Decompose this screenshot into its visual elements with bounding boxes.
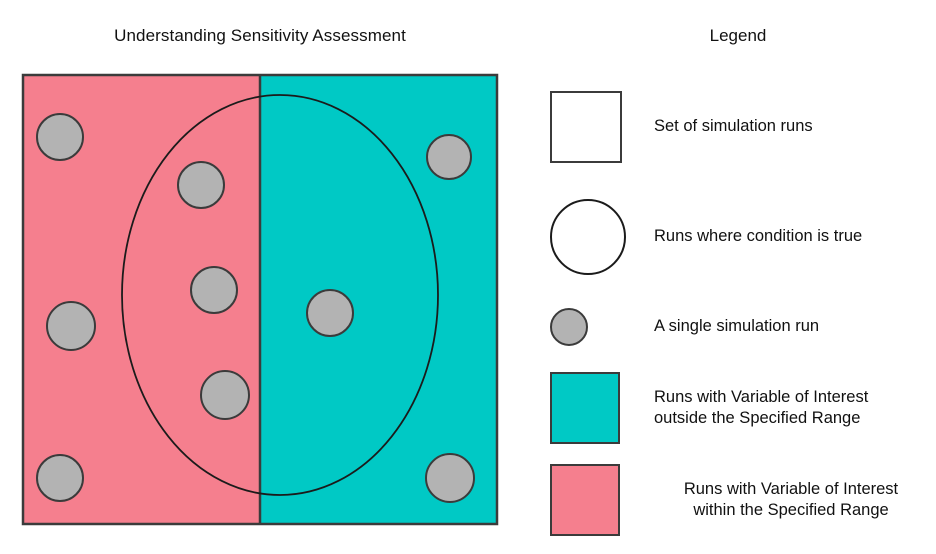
- simulation-run-circle: [178, 162, 224, 208]
- legend-item-label: Set of simulation runs: [650, 116, 936, 137]
- legend-swatch-cell: [540, 91, 650, 163]
- legend-item-label: Runs with Variable of Interestwithin the…: [650, 479, 936, 522]
- simulation-run-circle: [426, 454, 474, 502]
- filled-circle-icon: [550, 308, 588, 346]
- legend-item-within-specified-range[interactable]: Runs with Variable of Interestwithin the…: [540, 450, 936, 550]
- legend-item-label: Runs where condition is true: [650, 226, 936, 247]
- legend-swatch-cell: [540, 464, 650, 536]
- diagram-canvas: Understanding Sensitivity Assessment Leg…: [0, 0, 936, 554]
- legend-swatch-cell: [540, 308, 650, 346]
- legend-swatch-cell: [540, 372, 650, 444]
- circle-outline-icon: [550, 199, 626, 275]
- square-outline-icon: [550, 91, 622, 163]
- teal-swatch-icon: [550, 372, 620, 444]
- simulation-run-circle: [47, 302, 95, 350]
- legend-item-label: A single simulation run: [650, 316, 936, 337]
- legend-item-runs-where-condition-is-true[interactable]: Runs where condition is true: [540, 185, 936, 289]
- legend-item-outside-specified-range[interactable]: Runs with Variable of Interestoutside th…: [540, 358, 936, 458]
- venn-diagram: [0, 0, 520, 554]
- legend-item-set-of-simulation-runs[interactable]: Set of simulation runs: [540, 75, 936, 179]
- legend-list: Set of simulation runs Runs where condit…: [540, 75, 936, 535]
- legend-item-single-simulation-run[interactable]: A single simulation run: [540, 287, 936, 367]
- legend-swatch-cell: [540, 199, 650, 275]
- simulation-run-circle: [191, 267, 237, 313]
- simulation-run-circle: [37, 114, 83, 160]
- legend-item-label: Runs with Variable of Interestoutside th…: [650, 387, 936, 430]
- legend-title: Legend: [540, 26, 936, 46]
- simulation-run-circle: [201, 371, 249, 419]
- simulation-run-circle: [427, 135, 471, 179]
- simulation-run-circle: [307, 290, 353, 336]
- simulation-run-circle: [37, 455, 83, 501]
- pink-swatch-icon: [550, 464, 620, 536]
